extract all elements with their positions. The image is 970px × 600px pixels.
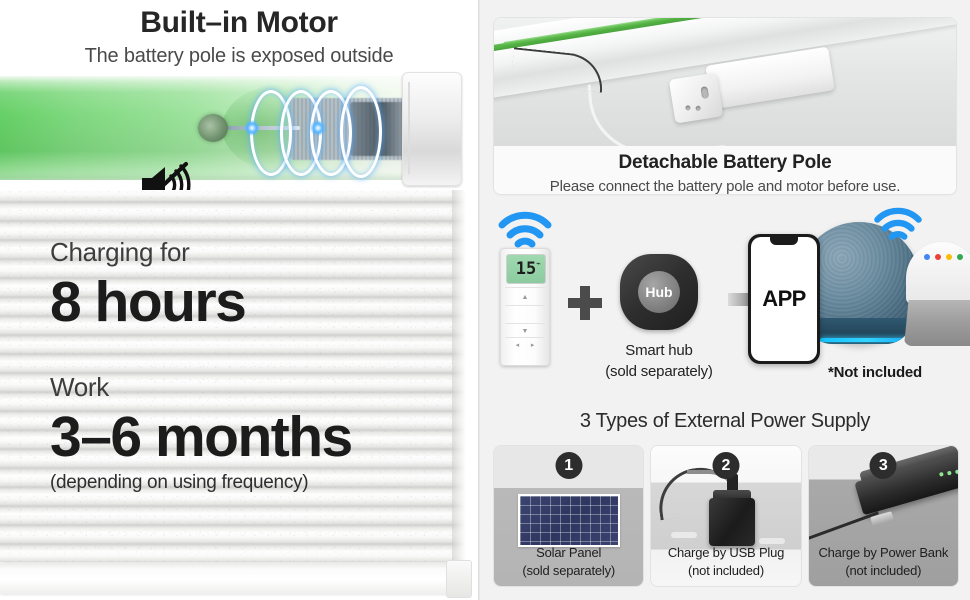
smart-hub-caption-line1: Smart hub xyxy=(598,340,720,361)
right-panel: Detachable Battery Pole Please connect t… xyxy=(480,0,970,600)
card-badge-1: 1 xyxy=(555,452,582,479)
phone-screen: APP xyxy=(751,237,817,361)
solar-card-title: Solar Panel xyxy=(494,544,643,562)
hub-label: Hub xyxy=(620,254,698,330)
smart-hub-caption-line2: (sold separately) xyxy=(598,361,720,382)
stat-work-note: (depending on using frequency) xyxy=(50,470,352,496)
wifi-icon-speaker xyxy=(872,206,924,244)
google-home-speaker xyxy=(904,242,970,346)
page-subtitle: The battery pole is exposed outside xyxy=(0,42,478,70)
power-supply-title: 3 Types of External Power Supply xyxy=(480,410,970,433)
stat-charging-value: 8 hours xyxy=(50,269,245,335)
white-charging-cable xyxy=(588,75,726,146)
shade-bottom-rail xyxy=(0,562,470,594)
outlet-slot-1 xyxy=(671,532,697,538)
led-dot-blue xyxy=(924,254,930,260)
usb-card-caption: Charge by USB Plug (not included) xyxy=(651,544,800,580)
bank-led-2 xyxy=(947,471,952,476)
led-dot-red xyxy=(935,254,941,260)
bank-led-3 xyxy=(955,469,958,474)
remote-up-button[interactable]: ▲ xyxy=(505,287,545,306)
remote-lcd-display: 15 ⌁ xyxy=(506,254,546,284)
led-dot-green xyxy=(957,254,963,260)
coil-glow-1 xyxy=(244,120,260,136)
bank-card-title: Charge by Power Bank xyxy=(809,544,958,562)
page-title: Built–in Motor xyxy=(0,4,478,42)
remote-stop-button[interactable] xyxy=(505,305,545,324)
bank-led-1 xyxy=(939,472,944,477)
power-supply-cards: 1 Solar Panel (sold separately) 2 Charge… xyxy=(494,446,958,586)
bank-card-caption: Charge by Power Bank (not included) xyxy=(809,544,958,580)
remote-signal-icon: ⌁ xyxy=(536,259,541,268)
stat-charging: Charging for 8 hours xyxy=(50,235,245,335)
speaker-base xyxy=(806,318,912,344)
led-dot-yellow xyxy=(946,254,952,260)
left-header: Built–in Motor The battery pole is expos… xyxy=(0,4,478,70)
speaker-led-ring xyxy=(820,338,912,342)
card-badge-3: 3 xyxy=(870,452,897,479)
stat-work-value: 3–6 months xyxy=(50,404,352,470)
power-card-usb-plug[interactable]: 2 Charge by USB Plug (not included) xyxy=(651,446,800,586)
google-home-base xyxy=(904,300,970,346)
stat-work: Work 3–6 months (depending on using freq… xyxy=(50,370,352,496)
shade-bottom-rail-cap xyxy=(446,560,472,598)
power-card-power-bank[interactable]: 3 Charge by Power Bank (not included) xyxy=(809,446,958,586)
shade-right-edge xyxy=(452,190,466,562)
battery-pole-subtitle: Please connect the battery pole and moto… xyxy=(494,176,956,194)
usb-card-subtitle: (not included) xyxy=(651,562,800,580)
wall-remote-control[interactable]: 15 ⌁ ▲ ▼ ◂ ▸ xyxy=(500,248,550,366)
battery-pole-caption: Detachable Battery Pole Please connect t… xyxy=(494,146,956,194)
battery-pole-title: Detachable Battery Pole xyxy=(494,150,956,176)
motor-tube-illustration: <48 db xyxy=(0,72,464,190)
solar-card-subtitle: (sold separately) xyxy=(494,562,643,580)
solar-panel-icon xyxy=(518,494,620,547)
wifi-icon xyxy=(496,210,554,252)
app-label: APP xyxy=(762,286,805,312)
phone-notch xyxy=(770,237,798,245)
not-included-note: *Not included xyxy=(780,364,970,381)
motor-gear xyxy=(198,114,228,142)
stat-charging-label: Charging for xyxy=(50,235,245,269)
smart-hub-row: 15 ⌁ ▲ ▼ ◂ ▸ Hub Smart hub (sold separat… xyxy=(480,206,970,396)
plus-icon xyxy=(568,286,602,320)
remote-channel-row[interactable]: ◂ ▸ xyxy=(505,337,545,352)
battery-pole-photo xyxy=(494,18,956,146)
google-home-top xyxy=(906,242,970,304)
remote-channel-value: 15 xyxy=(516,259,536,279)
usb-card-title: Charge by USB Plug xyxy=(651,544,800,562)
stat-work-label: Work xyxy=(50,370,352,404)
remote-down-button[interactable]: ▼ xyxy=(505,323,545,338)
power-card-solar-panel[interactable]: 1 Solar Panel (sold separately) xyxy=(494,446,643,586)
tube-end-cap xyxy=(402,72,462,186)
card-badge-2: 2 xyxy=(712,452,739,479)
bank-card-subtitle: (not included) xyxy=(809,562,958,580)
coil-glow-2 xyxy=(310,120,326,136)
smartphone: APP xyxy=(748,234,820,364)
motor-coil-4 xyxy=(340,86,382,178)
solar-card-caption: Solar Panel (sold separately) xyxy=(494,544,643,580)
tube-cap-seam xyxy=(408,82,410,174)
usb-plug-icon xyxy=(709,498,755,546)
detachable-battery-pole-card: Detachable Battery Pole Please connect t… xyxy=(494,18,956,194)
left-panel-built-in-motor: Built–in Motor The battery pole is expos… xyxy=(0,0,478,600)
smart-hub-caption: Smart hub (sold separately) xyxy=(598,340,720,382)
product-infographic: Built–in Motor The battery pole is expos… xyxy=(0,0,970,600)
